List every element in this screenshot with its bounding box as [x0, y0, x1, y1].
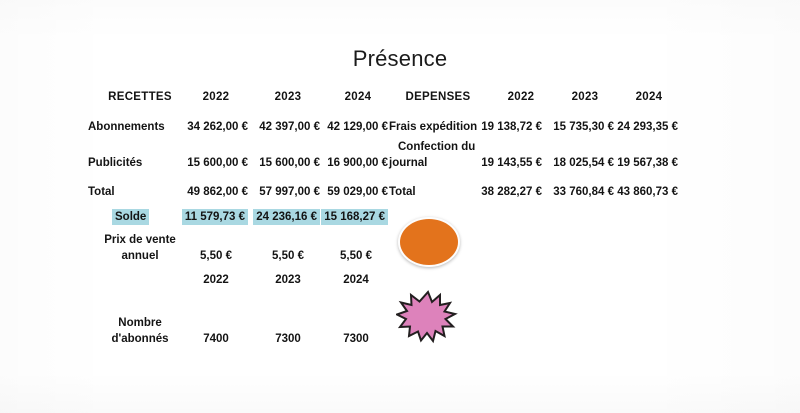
- column-header-right-year-2023: 2023: [550, 91, 620, 104]
- column-header-left-year-2024: 2024: [326, 91, 390, 104]
- abonnes-2024: 7300: [324, 333, 388, 346]
- row-label-abonnes-line2: d'abonnés: [96, 333, 184, 346]
- prix-vente-2024: 5,50 €: [324, 250, 388, 263]
- total-depenses-2022: 38 282,27 €: [470, 186, 542, 199]
- abonnements-2024: 42 129,00 €: [300, 121, 388, 134]
- total-depenses-2023: 33 760,84 €: [542, 186, 614, 199]
- column-header-right-year-2024: 2024: [614, 91, 684, 104]
- orange-ellipse-icon: [398, 217, 460, 267]
- prix-vente-2022: 5,50 €: [184, 250, 248, 263]
- row-label-prix-vente-line2: annuel: [96, 250, 184, 263]
- row-label-abonnes-line1: Nombre: [96, 317, 184, 330]
- column-header-left-year-2022: 2022: [184, 91, 248, 104]
- prix-vente-2023: 5,50 €: [256, 250, 320, 263]
- row-label-abonnements: Abonnements: [88, 121, 165, 134]
- bottom-year-2023: 2023: [256, 274, 320, 287]
- row-label-total-recettes: Total: [88, 186, 115, 199]
- abonnes-2022: 7400: [184, 333, 248, 346]
- row-label-solde: Solde: [112, 211, 149, 224]
- row-label-prix-vente-line1: Prix de vente: [96, 234, 184, 247]
- row-label-confection-du: Confection du: [398, 141, 475, 154]
- bottom-year-2024: 2024: [324, 274, 388, 287]
- row-label-journal: journal: [389, 157, 427, 170]
- bottom-year-2022: 2022: [184, 274, 248, 287]
- solde-2024: 15 168,27 €: [300, 211, 388, 224]
- pink-star-icon: [396, 290, 458, 344]
- row-label-publicites: Publicités: [88, 157, 142, 170]
- confection-journal-2024: 19 567,38 €: [606, 157, 678, 170]
- abonnes-2023: 7300: [256, 333, 320, 346]
- column-header-left-year-2023: 2023: [256, 91, 320, 104]
- solde-label-highlight: Solde: [112, 209, 149, 225]
- confection-journal-2022: 19 143,55 €: [470, 157, 542, 170]
- confection-journal-2023: 18 025,54 €: [542, 157, 614, 170]
- column-header-right-year-2022: 2022: [486, 91, 556, 104]
- frais-expedition-2024: 24 293,35 €: [606, 121, 678, 134]
- frais-expedition-2023: 15 735,30 €: [542, 121, 614, 134]
- column-header-depenses: DEPENSES: [390, 91, 486, 104]
- frais-expedition-2022: 19 138,72 €: [470, 121, 542, 134]
- publicites-2024: 16 900,00 €: [300, 157, 388, 170]
- financial-table: RECETTES 2022 2023 2024 DEPENSES 2022 20…: [0, 0, 800, 413]
- solde-2024-value: 15 168,27 €: [321, 209, 388, 225]
- total-depenses-2024: 43 860,73 €: [606, 186, 678, 199]
- column-header-recettes: RECETTES: [96, 91, 184, 104]
- total-recettes-2024: 59 029,00 €: [300, 186, 388, 199]
- row-label-frais-expedition: Frais expédition: [389, 121, 477, 134]
- row-label-total-depenses: Total: [389, 186, 416, 199]
